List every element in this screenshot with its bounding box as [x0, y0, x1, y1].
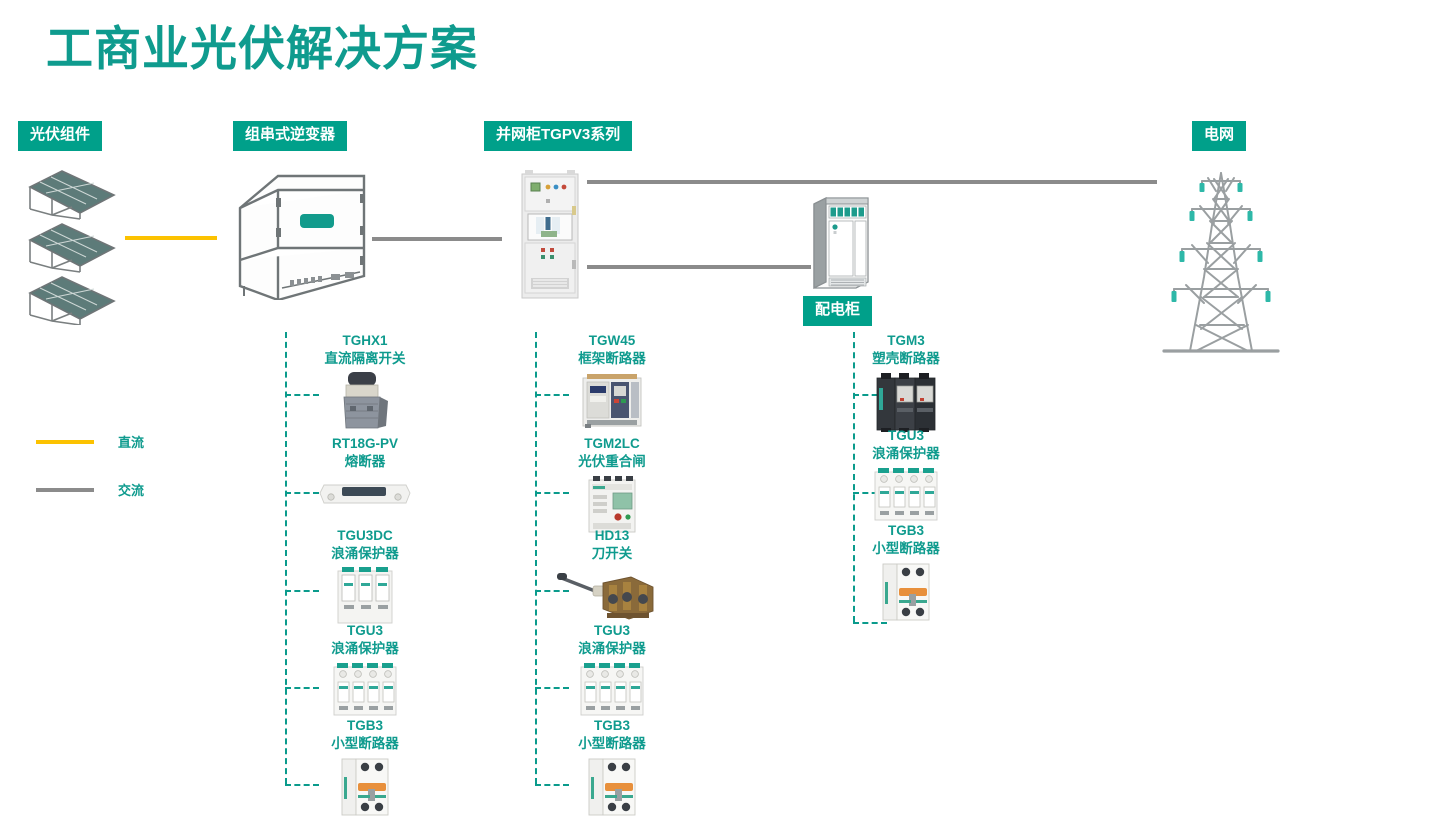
product-desc: 浪涌保护器: [517, 640, 707, 658]
surge-protector-3p-icon: [270, 565, 460, 625]
string-inverter-icon: [232, 168, 372, 300]
badge-power-grid: 电网: [1192, 121, 1246, 151]
surge-protector-4p-icon: [811, 465, 1001, 523]
product-desc: 浪涌保护器: [270, 640, 460, 658]
product-item: TGU3 浪涌保护器: [517, 622, 707, 718]
product-desc: 浪涌保护器: [270, 545, 460, 563]
fuse-icon: [270, 473, 460, 509]
product-item: TGHX1 直流隔离开关: [270, 332, 460, 432]
product-desc: 塑壳断路器: [811, 350, 1001, 368]
product-item: TGB3 小型断路器: [270, 717, 460, 817]
product-code: TGHX1: [270, 332, 460, 350]
knife-switch-icon: [517, 565, 707, 623]
legend-label-dc: 直流: [118, 432, 144, 451]
badge-pv-modules: 光伏组件: [18, 121, 102, 151]
miniature-circuit-breaker-icon: [811, 560, 1001, 622]
distribution-cabinet-icon: [810, 196, 872, 292]
product-code: RT18G-PV: [270, 435, 460, 453]
ac-line-grid-cabinet-to-distribution: [587, 265, 811, 269]
product-code: TGB3: [517, 717, 707, 735]
moulded-case-circuit-breaker-icon: [811, 370, 1001, 432]
badge-string-inverter: 组串式逆变器: [233, 121, 347, 151]
product-item: TGW45 框架断路器: [517, 332, 707, 428]
product-item: TGU3 浪涌保护器: [811, 427, 1001, 523]
legend-swatch-ac: [36, 488, 94, 492]
product-code: TGM3: [811, 332, 1001, 350]
legend-label-ac: 交流: [118, 480, 144, 499]
product-desc: 浪涌保护器: [811, 445, 1001, 463]
legend-item-ac: 交流: [36, 480, 144, 499]
product-code: TGW45: [517, 332, 707, 350]
product-item: TGU3 浪涌保护器: [270, 622, 460, 718]
product-item: TGB3 小型断路器: [517, 717, 707, 817]
surge-protector-4p-icon: [270, 660, 460, 718]
product-code: TGB3: [270, 717, 460, 735]
product-code: TGB3: [811, 522, 1001, 540]
product-desc: 小型断路器: [270, 735, 460, 753]
product-code: TGU3: [811, 427, 1001, 445]
product-desc: 直流隔离开关: [270, 350, 460, 368]
product-desc: 熔断器: [270, 453, 460, 471]
dc-line-pv-to-inverter: [125, 236, 217, 240]
page-title: 工商业光伏解决方案: [46, 22, 478, 76]
legend-swatch-dc: [36, 440, 94, 444]
product-code: TGU3: [270, 622, 460, 640]
transmission-tower-icon: [1160, 165, 1282, 357]
product-item: HD13 刀开关: [517, 527, 707, 623]
product-desc: 光伏重合闸: [517, 453, 707, 471]
product-desc: 刀开关: [517, 545, 707, 563]
air-circuit-breaker-icon: [517, 370, 707, 428]
solar-panel-array-icon: [22, 165, 122, 325]
product-item: TGU3DC 浪涌保护器: [270, 527, 460, 625]
surge-protector-4p-icon: [517, 660, 707, 718]
branch-connector: [853, 622, 887, 624]
legend-item-dc: 直流: [36, 432, 144, 451]
product-item: TGM2LC 光伏重合闸: [517, 435, 707, 533]
miniature-circuit-breaker-icon: [517, 755, 707, 817]
auto-recloser-icon: [517, 473, 707, 533]
badge-grid-cabinet: 并网柜TGPV3系列: [484, 121, 632, 151]
product-code: TGM2LC: [517, 435, 707, 453]
ac-line-inverter-to-grid-cabinet: [372, 237, 502, 241]
product-code: TGU3DC: [270, 527, 460, 545]
product-code: HD13: [517, 527, 707, 545]
product-item: RT18G-PV 熔断器: [270, 435, 460, 509]
product-item: TGM3 塑壳断路器: [811, 332, 1001, 432]
diagram-canvas: 工商业光伏解决方案 光伏组件 组串式逆变器 并网柜TGPV3系列 配电柜 电网 …: [0, 0, 1436, 829]
product-item: TGB3 小型断路器: [811, 522, 1001, 622]
product-code: TGU3: [517, 622, 707, 640]
dc-isolator-switch-icon: [270, 370, 460, 432]
product-desc: 小型断路器: [811, 540, 1001, 558]
product-desc: 小型断路器: [517, 735, 707, 753]
product-desc: 框架断路器: [517, 350, 707, 368]
miniature-circuit-breaker-icon: [270, 755, 460, 817]
ac-line-grid-cabinet-to-grid: [587, 180, 1157, 184]
badge-distribution-cabinet: 配电柜: [803, 296, 872, 326]
grid-connection-cabinet-icon: [519, 168, 581, 300]
